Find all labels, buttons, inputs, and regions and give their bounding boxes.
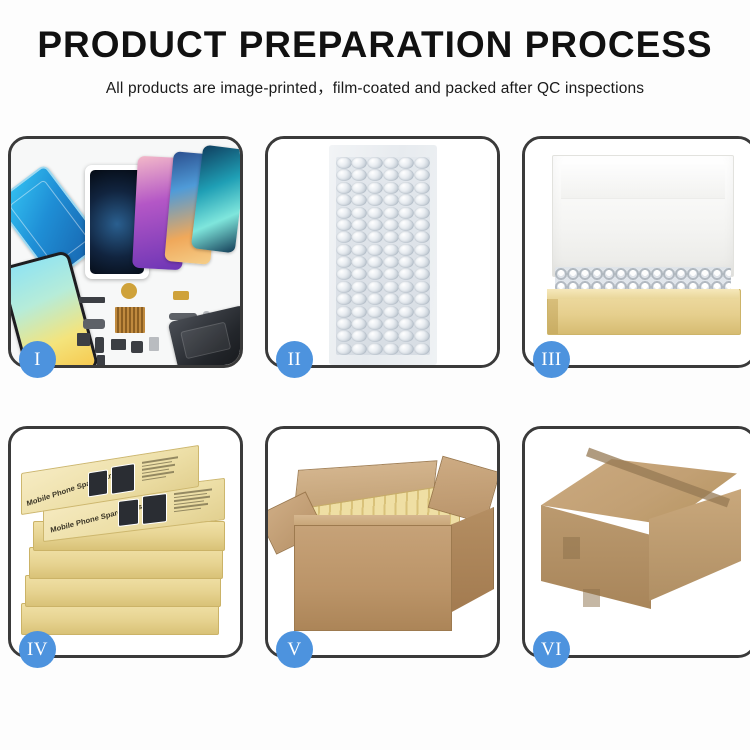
bubble	[414, 244, 429, 256]
bubble	[398, 293, 413, 305]
bubble	[383, 157, 398, 169]
bubble	[383, 256, 398, 268]
bubble	[367, 244, 382, 256]
bubble	[351, 244, 366, 256]
bubble	[351, 170, 366, 182]
process-step-card-4: Mobile Phone Spare Parts Mobile Phone Sp…	[8, 426, 243, 658]
step-3-illustration	[525, 139, 750, 365]
bubble	[398, 343, 413, 355]
bubble	[398, 194, 413, 206]
bubble	[351, 256, 366, 268]
bubble	[383, 318, 398, 330]
bubble	[383, 269, 398, 281]
bubble	[367, 256, 382, 268]
step-badge-1: I	[19, 341, 56, 378]
box-white-lid-flap	[552, 155, 734, 277]
bubble	[336, 293, 351, 305]
bubble	[398, 231, 413, 243]
bubble	[383, 170, 398, 182]
bubble-grid	[336, 157, 430, 355]
bubble	[351, 182, 366, 194]
bubble	[336, 269, 351, 281]
bubble	[398, 269, 413, 281]
bubble	[367, 269, 382, 281]
bubble	[336, 256, 351, 268]
bubble	[336, 343, 351, 355]
bubble	[398, 306, 413, 318]
bubble	[367, 231, 382, 243]
bubble	[351, 306, 366, 318]
page-header: PRODUCT PREPARATION PROCESS All products…	[0, 0, 750, 98]
bubble	[414, 194, 429, 206]
bubble	[336, 194, 351, 206]
bubble	[367, 207, 382, 219]
bubble	[383, 182, 398, 194]
bubble	[367, 194, 382, 206]
carton-tab-upper	[563, 537, 580, 559]
bubble	[414, 207, 429, 219]
bubble	[336, 231, 351, 243]
bubble	[414, 306, 429, 318]
step-4-illustration: Mobile Phone Spare Parts Mobile Phone Sp…	[11, 429, 240, 655]
bubble	[336, 207, 351, 219]
spare-parts-cluster	[73, 281, 240, 365]
page-subtitle: All products are image-printed，film-coat…	[0, 76, 750, 98]
bubble	[414, 281, 429, 293]
bubble	[414, 330, 429, 342]
step-badge-5: V	[276, 631, 313, 668]
bubble	[367, 306, 382, 318]
bubble	[367, 330, 382, 342]
bubble	[383, 231, 398, 243]
bubble	[414, 170, 429, 182]
process-step-card-1: I	[8, 136, 243, 368]
step-badge-4: IV	[19, 631, 56, 668]
step-6-illustration	[525, 429, 750, 655]
carton-side-panel	[450, 507, 494, 613]
process-steps-grid: I II III	[8, 136, 742, 658]
process-step-card-2: II	[265, 136, 500, 368]
bubble	[336, 330, 351, 342]
bubble	[414, 269, 429, 281]
bubble	[398, 281, 413, 293]
bubble	[383, 207, 398, 219]
bubble	[398, 219, 413, 231]
bubble	[367, 170, 382, 182]
bubble	[351, 207, 366, 219]
bubble	[351, 157, 366, 169]
bubble	[398, 330, 413, 342]
process-step-card-6: VI	[522, 426, 750, 658]
bubble	[398, 157, 413, 169]
bubble	[336, 281, 351, 293]
carton-front-panel	[294, 525, 452, 631]
bubble	[367, 219, 382, 231]
bubble	[398, 244, 413, 256]
bubble	[351, 318, 366, 330]
step-badge-3: III	[533, 341, 570, 378]
bubble	[336, 219, 351, 231]
carton-tab-lower	[583, 589, 600, 607]
bubble	[383, 244, 398, 256]
bubble	[336, 306, 351, 318]
retail-box-stack: Mobile Phone Spare Parts Mobile Phone Sp…	[15, 445, 240, 650]
bubble	[383, 330, 398, 342]
bubble	[398, 318, 413, 330]
bubble	[414, 219, 429, 231]
bubble	[367, 182, 382, 194]
bubble	[367, 293, 382, 305]
bubble	[398, 207, 413, 219]
bubble	[383, 219, 398, 231]
process-step-card-5: V	[265, 426, 500, 658]
bubble	[351, 269, 366, 281]
bubble	[351, 330, 366, 342]
step-badge-2: II	[276, 341, 313, 378]
bubble	[367, 281, 382, 293]
bubble	[414, 256, 429, 268]
bubble	[336, 318, 351, 330]
page-title: PRODUCT PREPARATION PROCESS	[0, 26, 750, 65]
step-badge-6: VI	[533, 631, 570, 668]
bubble	[367, 318, 382, 330]
bubble	[383, 194, 398, 206]
bubble	[336, 157, 351, 169]
bubble	[351, 293, 366, 305]
bubble	[383, 293, 398, 305]
bubble	[351, 219, 366, 231]
bubble	[414, 293, 429, 305]
process-step-card-3: III	[522, 136, 750, 368]
bubble	[351, 281, 366, 293]
bubble	[398, 170, 413, 182]
bubble	[414, 231, 429, 243]
bubble	[383, 343, 398, 355]
step-5-illustration	[268, 429, 497, 655]
yellow-box-front-edge	[547, 289, 739, 299]
bubble	[383, 306, 398, 318]
bubble	[383, 281, 398, 293]
bubble	[398, 256, 413, 268]
bubble	[414, 182, 429, 194]
step-1-illustration	[11, 139, 240, 365]
step-2-illustration	[268, 139, 497, 365]
bubble	[398, 182, 413, 194]
bubble-wrap-pouch	[329, 145, 437, 365]
bubble	[414, 318, 429, 330]
bubble	[414, 343, 429, 355]
bubble	[336, 182, 351, 194]
bubble	[351, 343, 366, 355]
bubble	[351, 194, 366, 206]
bubble	[414, 157, 429, 169]
bubble	[367, 343, 382, 355]
bubble	[367, 157, 382, 169]
bubble	[351, 231, 366, 243]
bubble	[336, 244, 351, 256]
bubble	[336, 170, 351, 182]
